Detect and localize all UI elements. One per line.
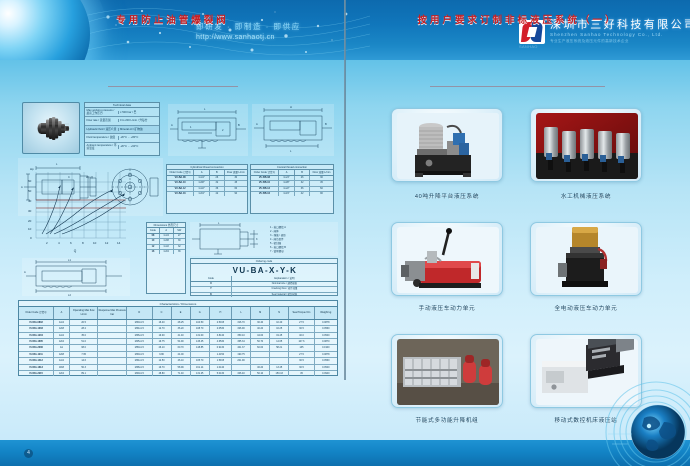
- cell-flow: 45: [225, 181, 247, 185]
- cell: 71.40: [172, 371, 191, 376]
- cell: 10.40: [270, 320, 289, 325]
- cell-sw: 30: [174, 239, 185, 243]
- cell-code: VU-BA-16: [167, 192, 194, 196]
- cell: 0.9130: [210, 345, 232, 350]
- cell: [98, 345, 127, 350]
- legend-text: Seal material / 密封材质: [232, 293, 337, 297]
- logo-badge-text: SANHAO: [519, 44, 538, 49]
- cell: G3/4: [54, 371, 70, 376]
- cell: M34x1.5: [127, 358, 152, 363]
- cell: 28.25: [172, 320, 191, 325]
- cell: 9.80: [153, 352, 172, 357]
- cell: 0.0560: [315, 326, 337, 331]
- cell: M34x1.5: [127, 326, 152, 331]
- cell: M36x1.5: [127, 333, 152, 338]
- spec-key: Flow rate / 流量范围: [85, 119, 118, 122]
- cell: 12.70: [153, 326, 172, 331]
- cell-flow: 90: [225, 192, 247, 196]
- product-caption-2: 水工机械液压系统: [530, 192, 642, 200]
- cell: 20.5: [70, 320, 99, 325]
- cell: VU-BA-1211: [19, 352, 54, 357]
- svg-text:A: A: [24, 270, 26, 274]
- col-header: B: [210, 170, 224, 175]
- svg-text:1 - 接口螺纹 A: 1 - 接口螺纹 A: [270, 225, 286, 229]
- right-page-title: 按用户要求订制非标液压系统（一）: [345, 12, 690, 26]
- cell-b: 32: [295, 181, 310, 185]
- svg-text:7 - 锁紧螺母: 7 - 锁紧螺母: [270, 249, 284, 253]
- legend-code: Y: [191, 287, 232, 291]
- cell-a: G1/4: [160, 234, 174, 238]
- col-header: G: [191, 307, 210, 319]
- product-caption-4: 全电动液压车动力单元: [530, 304, 642, 312]
- col-header: Code: [191, 276, 232, 281]
- cell: [98, 333, 127, 338]
- cell: VU-BA-0802: [19, 320, 54, 325]
- spec-key: Ambient temperature / 环境温度: [85, 144, 118, 150]
- col-header: Weight kg: [315, 307, 337, 319]
- cell: G3/8: [54, 326, 70, 331]
- cell: VU-BA-1605: [19, 339, 54, 344]
- cell: G3/8: [54, 352, 70, 357]
- svg-text:L2: L2: [68, 293, 71, 296]
- cell: 41.40: [172, 333, 191, 338]
- cell: 12.50: [153, 358, 172, 363]
- cell: M45x1.5: [127, 339, 152, 344]
- pressure-flow-chart: 01020 30405060 246 8101214 Δp Δp-Q Q: [20, 164, 132, 256]
- spec-value: Mineral oil / 矿物油: [118, 128, 159, 131]
- cell-a: G3/4": [279, 192, 295, 196]
- cell: M50x1.5: [127, 345, 152, 350]
- cell: 16.25: [270, 326, 289, 331]
- col-header: Operating Max flow L/min: [70, 307, 99, 319]
- cell: 1.0140: [210, 365, 232, 370]
- svg-text:L1: L1: [68, 258, 71, 262]
- spec-value: -20°C ... +80°C: [118, 136, 159, 139]
- footer-bar: 4: [0, 440, 690, 466]
- svg-text:4 - 阀芯组件: 4 - 阀芯组件: [270, 237, 284, 241]
- svg-text:0: 0: [30, 236, 32, 240]
- cell: 145.45: [191, 339, 210, 344]
- cell-b: 36: [295, 187, 310, 191]
- cell: VU-BA-2006: [19, 345, 54, 350]
- cell: 45: [289, 371, 314, 376]
- svg-text:L: L: [204, 107, 206, 111]
- svg-text:A: A: [171, 123, 173, 127]
- legend-text: Cracking flow / 动作流量: [232, 287, 337, 291]
- svg-text:B: B: [238, 123, 240, 127]
- blue-sphere-logo-decoration: [0, 0, 90, 60]
- cell: 190.75: [232, 352, 251, 357]
- cell: 0.0540: [315, 333, 337, 338]
- svg-text:50: 50: [28, 189, 32, 193]
- cell: 30.5: [289, 365, 314, 370]
- spec-key: Hydraulic fluid / 液压介质: [85, 128, 118, 131]
- cell: [98, 326, 127, 331]
- cell: 135: [289, 345, 314, 350]
- cell: 36.20: [172, 326, 191, 331]
- center-fold-line: [344, 0, 346, 380]
- col-header: Code: [147, 228, 160, 233]
- cell: M40x1.5: [127, 371, 152, 376]
- cell-code: 08: [147, 234, 160, 238]
- cell: 1.5915: [210, 358, 232, 363]
- col-header: Order Code 订货号: [19, 307, 54, 319]
- table-row: VU-BA-16 G3/4" 42 90: [167, 192, 247, 196]
- cell: 30.5: [289, 326, 314, 331]
- cell-code: VU-BA-12: [167, 187, 194, 191]
- cell-a: G1/4": [279, 176, 295, 180]
- ordering-code-box: Ordering code VU-BA-X-Y-K Code Explanati…: [190, 258, 338, 296]
- svg-text:Δp: Δp: [30, 167, 34, 171]
- cell: 4.6530: [210, 339, 232, 344]
- cell: 19.70: [153, 365, 172, 370]
- product-card-4[interactable]: [530, 222, 642, 296]
- product-image-1: [397, 113, 499, 179]
- cell: M30x1.5: [127, 352, 152, 357]
- cell: 19.00: [153, 333, 172, 338]
- col-header: E: [172, 307, 191, 319]
- cell-sw: 36: [174, 250, 185, 254]
- cell: 19.75: [153, 339, 172, 344]
- legend-text: Nominal size / 通径规格: [232, 282, 337, 286]
- cell: VU-BA-1003: [19, 326, 54, 331]
- col-header: Flow 流量 L/min: [310, 170, 333, 175]
- cell: 40.20: [251, 326, 270, 331]
- cell: 27.5: [289, 352, 314, 357]
- cell: 350.10: [232, 333, 251, 338]
- cell: 58.21: [270, 345, 289, 350]
- cell-a: G3/8: [160, 239, 174, 243]
- cell: VU-BA-1412: [19, 358, 54, 363]
- svg-text:60: 60: [28, 179, 32, 183]
- legend-code: K: [191, 293, 232, 297]
- cell-a: G3/8": [279, 181, 295, 185]
- cell: [98, 358, 127, 363]
- cell: G1/4: [54, 320, 70, 325]
- cell: 14.6: [70, 358, 99, 363]
- cell: 1.4150: [210, 352, 232, 357]
- company-name-en: Shenzhen Sanhao Technology Co., Ltd.: [550, 31, 690, 38]
- cell-code: 10: [147, 239, 160, 243]
- cell-code: VU-BB-10: [251, 181, 279, 185]
- cell: 44.00: [251, 333, 270, 338]
- cell: 50.10: [251, 371, 270, 376]
- cell-flow: 60: [310, 187, 333, 191]
- valve-product-photo: [22, 102, 80, 154]
- cell-code: VU-BA-10: [167, 181, 194, 185]
- svg-text:Q: Q: [74, 249, 77, 253]
- cell-code: 12: [147, 245, 160, 249]
- cell: 60.70: [172, 345, 191, 350]
- svg-text:30: 30: [28, 209, 32, 213]
- col-header: Response Max Pressure bar: [98, 307, 127, 319]
- cell: 0.0540: [315, 365, 337, 370]
- svg-text:20: 20: [28, 219, 32, 223]
- catalog-spread: 即研发 · 即制造 · 即供应 http://www.sanhaotj.cn 深…: [0, 0, 690, 466]
- svg-text:10: 10: [93, 241, 97, 245]
- cell: [251, 352, 270, 357]
- col-header: L: [232, 307, 251, 319]
- page-number: 4: [24, 449, 33, 458]
- svg-text:1: 1: [190, 125, 192, 129]
- cell: 89.1: [70, 371, 99, 376]
- cell-code: VU-BA-08: [167, 176, 194, 180]
- cell: 161.14: [191, 365, 210, 370]
- cell-a: G3/8": [194, 181, 210, 185]
- col-header: H: [210, 307, 232, 319]
- cell: VU-BA-2215: [19, 371, 54, 376]
- cell: 104.50: [191, 320, 210, 325]
- cell: 316.70: [232, 320, 251, 325]
- cell-a: G1/4": [194, 176, 210, 180]
- svg-text:Δp-Q: Δp-Q: [86, 175, 94, 179]
- cross-section-drawing-2: HLAB: [252, 104, 334, 156]
- characteristics-dimensions-table: Characteristics / Dimensions Order Code …: [18, 300, 338, 376]
- col-header: N: [270, 307, 289, 319]
- product-card-1[interactable]: [391, 108, 503, 182]
- cell: G5/8: [54, 365, 70, 370]
- cell: 50.3: [70, 365, 99, 370]
- cell: 401.37: [232, 345, 251, 350]
- table-row: VU-BB-16 G3/4" 42 90: [251, 192, 333, 196]
- svg-text:L: L: [290, 149, 292, 153]
- svg-text:10: 10: [28, 227, 32, 231]
- cell: G1/2: [54, 333, 70, 338]
- cell: 50.70: [251, 339, 270, 344]
- big-table-header-row: Order Code 订货号 A Operating Max flow L/mi…: [19, 307, 337, 320]
- svg-text:6: 6: [70, 241, 72, 245]
- cell: 131.00: [191, 333, 210, 338]
- svg-text:2: 2: [222, 128, 224, 132]
- cell-flow: 90: [310, 192, 333, 196]
- col-header: Explanation / 说明: [232, 276, 337, 281]
- product-image-4: [536, 227, 638, 293]
- cell: [98, 365, 127, 370]
- dimension-table: Dimensions 外形尺寸 Code A SW 08 G1/4 27 10 …: [146, 222, 186, 294]
- spec-value: 0 to 200 L/min / 升每分: [118, 119, 159, 122]
- company-tagline: 专业生产液压系统及液压元件的高新技术企业: [550, 38, 690, 44]
- cell: 0.0940: [315, 371, 337, 376]
- cell-code: VU-BB-08: [251, 176, 279, 180]
- svg-text:6 - 接口螺纹 B: 6 - 接口螺纹 B: [270, 245, 286, 249]
- col-header: Order Code 订货号: [167, 170, 194, 175]
- cell: 365.34: [232, 339, 251, 344]
- svg-text:3 - 弹簧 / 调压: 3 - 弹簧 / 调压: [270, 233, 286, 237]
- table-row: 16 G3/4 36: [147, 250, 185, 254]
- col-header: A: [279, 170, 295, 175]
- cell: 58.99: [172, 365, 191, 370]
- legend-code: X: [191, 282, 232, 286]
- cell: M30x1.5: [127, 320, 152, 325]
- cell: 150.43: [270, 371, 289, 376]
- cell: [270, 358, 289, 363]
- cell: 0.0560: [315, 358, 337, 363]
- cell: 68.0: [70, 345, 99, 350]
- globe-decoration: [594, 374, 690, 466]
- cell: 35.0: [70, 333, 99, 338]
- cell-code: VU-BB-16: [251, 192, 279, 196]
- cell: 201.90: [232, 358, 251, 363]
- svg-text:A: A: [256, 122, 258, 126]
- cell: [98, 352, 127, 357]
- cell-flow: 60: [225, 187, 247, 191]
- cell: 107.6: [289, 339, 314, 344]
- cell: 16.40: [153, 320, 172, 325]
- cell: 19.45: [270, 333, 289, 338]
- svg-text:5 - 密封圈: 5 - 密封圈: [270, 241, 282, 245]
- code-table-conical: Conical thread connection Order Code 订货号…: [250, 164, 334, 214]
- cell: 51.0: [70, 339, 99, 344]
- col-header: C: [153, 307, 172, 319]
- cell: VU-BA-1204: [19, 333, 54, 338]
- cell: 28.2: [70, 326, 99, 331]
- product-image-5: [397, 339, 499, 405]
- cell: [191, 352, 210, 357]
- cell: 346.40: [232, 371, 251, 376]
- cell-b: 26: [210, 176, 224, 180]
- product-card-2[interactable]: [530, 108, 642, 182]
- svg-text:12: 12: [105, 241, 109, 245]
- technical-data-table: Technical data Max working pressure / 最高…: [84, 102, 160, 156]
- cell: 5.0130: [210, 371, 232, 376]
- cell: [98, 339, 127, 344]
- product-card-5[interactable]: [391, 334, 503, 408]
- product-caption-3: 手动液压车动力单元: [391, 304, 503, 312]
- cell: 2.5015: [210, 320, 232, 325]
- cell: 48.80: [153, 371, 172, 376]
- product-caption-1: 40吨升降平台液压系统: [391, 192, 503, 200]
- cell: 7.65: [70, 352, 99, 357]
- cell-a: G1/2": [194, 187, 210, 191]
- cell-flow: 30: [225, 176, 247, 180]
- cell-b: 42: [210, 192, 224, 196]
- svg-text:4: 4: [58, 241, 60, 245]
- valve-illustration: [35, 114, 71, 143]
- cell-a: G3/4": [194, 192, 210, 196]
- spec-key: Fluid temperature / 油温: [85, 136, 118, 139]
- svg-text:L: L: [218, 222, 220, 225]
- cell-b: 36: [210, 187, 224, 191]
- svg-text:2 - 阀体: 2 - 阀体: [270, 229, 279, 233]
- left-title-underline: [108, 86, 238, 87]
- col-header: Order Code 订货号: [251, 170, 279, 175]
- cell: 60.00: [251, 345, 270, 350]
- cell-b: 42: [295, 192, 310, 196]
- product-card-3[interactable]: [391, 222, 503, 296]
- cell: 46.20: [251, 365, 270, 370]
- table-row: K Seal material / 密封材质: [191, 293, 337, 297]
- right-title-underline: [430, 86, 605, 87]
- cell: G3/4: [54, 339, 70, 344]
- cell: 0.0878: [315, 352, 337, 357]
- cell: 46.10: [172, 358, 191, 363]
- cell-code: VU-BB-12: [251, 187, 279, 191]
- cell: 3.8140: [210, 333, 232, 338]
- cell: [98, 320, 127, 325]
- cell: 2.0530: [210, 326, 232, 331]
- cell: 13.45: [270, 365, 289, 370]
- cell: [98, 371, 127, 376]
- col-header: Flow 流量 L/min: [225, 170, 247, 175]
- cell: 54.90: [172, 339, 191, 344]
- svg-text:B: B: [325, 122, 327, 126]
- table-row: VU-BA-2215 G3/4 89.1 M40x1.5 48.80 71.40…: [19, 371, 337, 376]
- product-image-2: [536, 113, 638, 179]
- cell: 105.70: [191, 358, 210, 363]
- spec-value: -20°C ... +60°C: [118, 145, 159, 148]
- cell: 0.0870: [315, 339, 337, 344]
- cell: M38x1.5: [127, 365, 152, 370]
- cell: [251, 358, 270, 363]
- left-page-title: 专用防止油管爆裂阀: [0, 12, 345, 26]
- code-table-cylindrical: Cylindrical thread connection Order Code…: [166, 164, 248, 214]
- product-caption-5: 节能式多功能升降机组: [391, 416, 503, 424]
- banner-website-url[interactable]: http://www.sanhaotj.cn: [196, 34, 275, 41]
- cell-sw: 27: [174, 234, 185, 238]
- cell: 131.25: [191, 371, 210, 376]
- cross-section-drawing-1: LAB 12: [168, 104, 248, 156]
- cell: 326.90: [232, 326, 251, 331]
- cell: [232, 365, 251, 370]
- col-header: D: [127, 307, 152, 319]
- svg-text:8: 8: [82, 241, 84, 245]
- cell-sw: 32: [174, 245, 185, 249]
- cell-a: G3/4: [160, 250, 174, 254]
- cell: 30.40: [251, 320, 270, 325]
- col-header: A: [194, 170, 210, 175]
- cell-a: G1/2": [279, 187, 295, 191]
- svg-text:2: 2: [46, 241, 48, 245]
- cell: 0.0878: [315, 320, 337, 325]
- col-header: A: [160, 228, 174, 233]
- svg-text:H: H: [290, 105, 292, 109]
- cell: 26.10: [153, 345, 172, 350]
- section-detail-drawing: L1L2A: [22, 258, 130, 296]
- cell: 108.70: [191, 326, 210, 331]
- cell: 148.85: [191, 345, 210, 350]
- cell-flow: 30: [310, 176, 333, 180]
- cell: [270, 352, 289, 357]
- cell-a: G1/2: [160, 245, 174, 249]
- ordering-code-value: VU-BA-X-Y-K: [191, 266, 339, 275]
- cell: 27.5: [289, 320, 314, 325]
- cell: 40.0: [289, 333, 314, 338]
- col-header: A: [54, 307, 70, 319]
- svg-text:K: K: [256, 238, 258, 241]
- col-header: B: [295, 170, 310, 175]
- spec-key: Max working pressure / 最高工作压力: [85, 109, 118, 115]
- col-header: SW: [174, 228, 185, 233]
- cell-code: 16: [147, 250, 160, 254]
- ordering-detail-drawing: LK 1 - 接口螺纹 A 2 - 阀体 3 - 弹簧 / 调压 4 - 阀芯组…: [190, 222, 338, 256]
- cell: 24.00: [172, 352, 191, 357]
- cell: G1/2: [54, 358, 70, 363]
- cell: VU-BA-1613: [19, 365, 54, 370]
- cell: 0.1900: [315, 345, 337, 350]
- svg-text:14: 14: [117, 241, 121, 245]
- cell: G1: [54, 345, 70, 350]
- cell: 14.65: [270, 339, 289, 344]
- spec-value: ≤ 500 bar / 巴: [118, 111, 159, 114]
- col-header: Seal Torque Nm: [289, 307, 314, 319]
- cell-flow: 45: [310, 181, 333, 185]
- cell-b: 26: [295, 176, 310, 180]
- col-header: M: [251, 307, 270, 319]
- product-image-3: [397, 227, 499, 293]
- svg-text:40: 40: [28, 199, 32, 203]
- cell: 30.5: [289, 358, 314, 363]
- cell-b: 32: [210, 181, 224, 185]
